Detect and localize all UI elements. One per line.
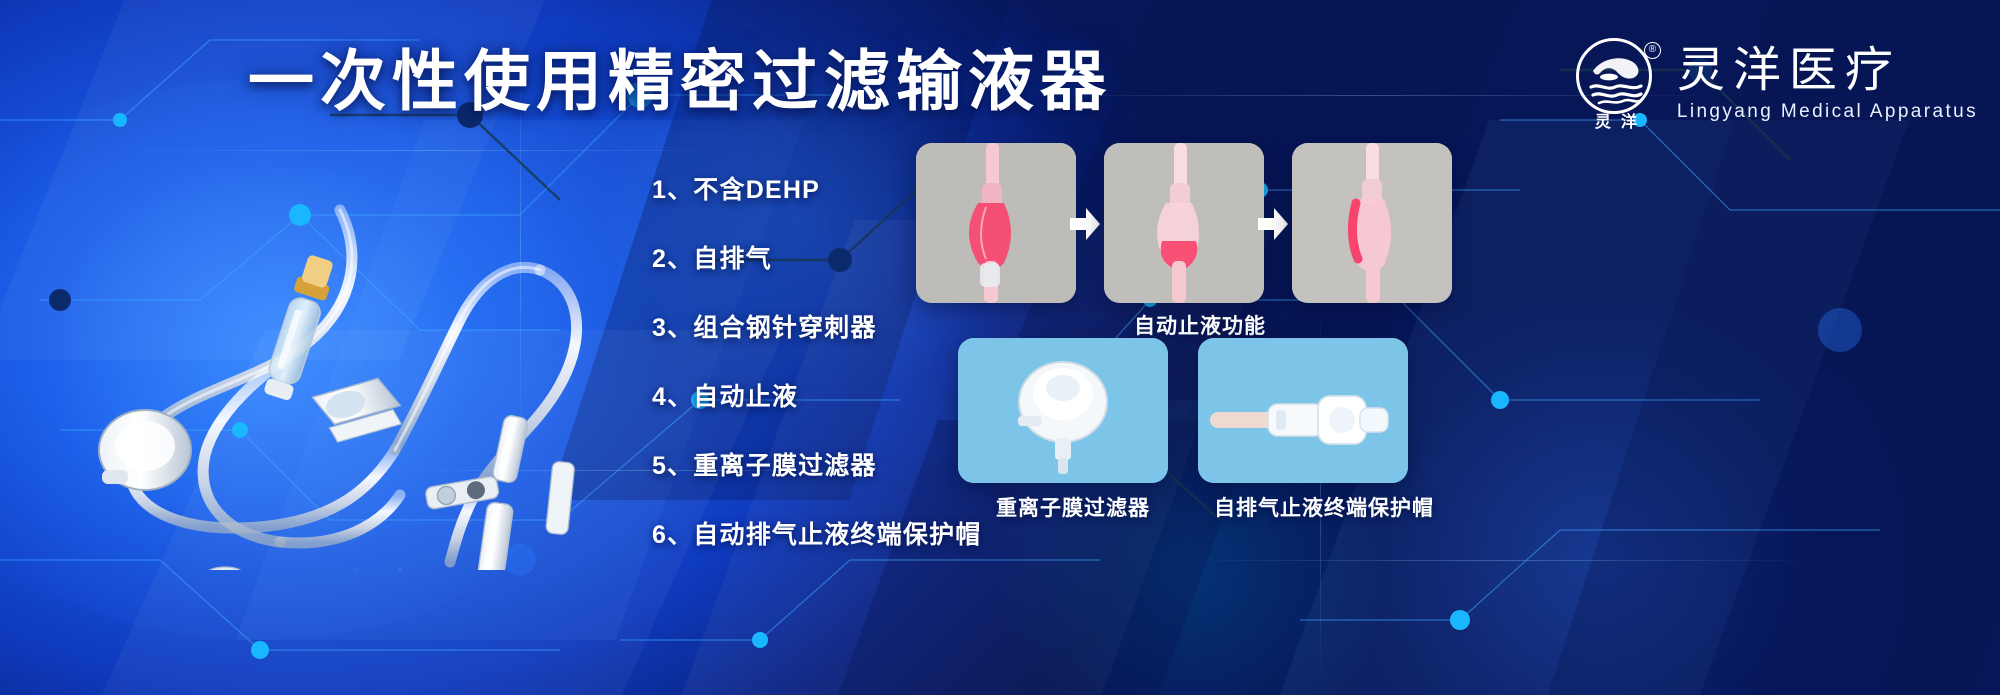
brand-name-en: Lingyang Medical Apparatus xyxy=(1677,101,1978,123)
demo-photo-step-1 xyxy=(916,143,1076,303)
component-caption-cap: 自排气止液终端保护帽 xyxy=(1214,492,1434,522)
demo-photo-step-2 xyxy=(1104,143,1264,303)
feature-item-4: 4、自动止液 xyxy=(652,377,982,413)
registered-trademark-icon: ® xyxy=(1644,42,1661,59)
sequence-arrow-2 xyxy=(1256,205,1290,243)
logo-emblem-label-right: 洋 xyxy=(1621,114,1647,131)
page-title: 一次性使用精密过滤输液器 xyxy=(248,48,1112,115)
component-photo-cap xyxy=(1198,338,1408,483)
logo-emblem-label-left: 灵 xyxy=(1595,114,1621,131)
feature-item-5: 5、重离子膜过滤器 xyxy=(652,446,982,482)
feature-item-6: 6、自动排气止液终端保护帽 xyxy=(652,515,982,551)
feature-item-3: 3、组合钢针穿刺器 xyxy=(652,308,982,344)
product-banner: 一次性使用精密过滤输液器 ® 灵洋 灵洋医疗 xyxy=(0,0,2000,695)
product-image xyxy=(40,150,660,570)
brand-name-cn: 灵洋医疗 xyxy=(1677,45,1978,98)
logo-emblem: ® 灵洋 xyxy=(1573,38,1659,130)
sequence-arrow-1 xyxy=(1068,205,1102,243)
component-caption-filter: 重离子膜过滤器 xyxy=(996,492,1150,522)
brand-logo: ® 灵洋 灵洋医疗 Lingyang Medical Apparatus xyxy=(1573,38,1978,130)
component-photo-filter xyxy=(958,338,1168,483)
demo-sequence-caption: 自动止液功能 xyxy=(1134,310,1266,340)
logo-circle-icon xyxy=(1576,38,1652,114)
demo-photo-step-3 xyxy=(1292,143,1452,303)
brand-text: 灵洋医疗 Lingyang Medical Apparatus xyxy=(1677,45,1978,124)
logo-emblem-label: 灵洋 xyxy=(1573,108,1659,132)
